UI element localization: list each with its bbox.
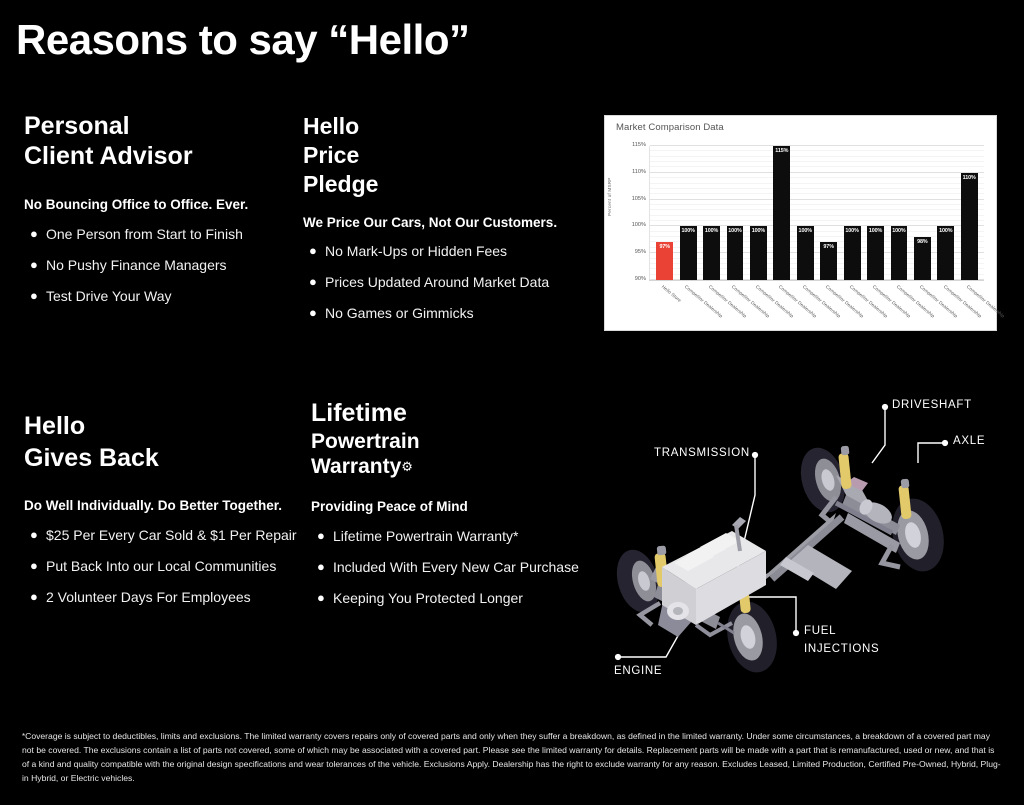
list-item-label: Test Drive Your Way: [46, 288, 172, 304]
chart-bar: 115%: [773, 146, 790, 280]
chart-bar-value-label: 100%: [680, 228, 697, 234]
chart-y-tick-label: 100%: [632, 222, 646, 228]
chart-bar: 100%: [750, 226, 767, 280]
list-item: ●Keeping You Protected Longer: [311, 590, 601, 606]
diagram-label-driveshaft: DRIVESHAFT: [892, 399, 972, 411]
chart-bar-value-label: 97%: [656, 244, 673, 250]
diagram-label-fuel-injections-line2: INJECTIONS: [804, 643, 879, 655]
section-bullet-list: ●$25 Per Every Car Sold & $1 Per Repair …: [24, 527, 304, 605]
chassis-icon: ⚙: [401, 459, 413, 474]
list-item: ●Put Back Into our Local Communities: [24, 558, 304, 574]
bullet-icon: ●: [309, 274, 317, 289]
chart-x-tick: Competitor Dealership: [770, 284, 794, 330]
chart-bars-region: 90%95%100%105%110%115% 97%100%100%100%10…: [649, 146, 984, 280]
chart-bar-series: 97%100%100%100%100%115%100%97%100%100%10…: [650, 146, 984, 280]
chart-x-tick: Competitor Dealership: [793, 284, 817, 330]
section-hello-gives-back: Hello Gives Back Do Well Individually. D…: [24, 411, 304, 620]
chart-bar-value-label: 115%: [773, 148, 790, 154]
chart-bar: 100%: [703, 226, 720, 280]
chart-plot-area: Percent of MSRP 90%95%100%105%110%115% 9…: [605, 138, 998, 332]
bullet-icon: ●: [317, 559, 325, 574]
list-item: ●No Mark-Ups or Hidden Fees: [303, 243, 583, 259]
chart-bar-column: 100%: [864, 146, 887, 280]
section-bullet-list: ●Lifetime Powertrain Warranty* ●Included…: [311, 528, 601, 606]
chart-bar-value-label: 100%: [750, 228, 767, 234]
chart-bar-column: 100%: [934, 146, 957, 280]
chart-bar: 100%: [727, 226, 744, 280]
list-item: ●No Games or Gimmicks: [303, 305, 583, 321]
section-heading: Lifetime Powertrain Warranty⚙: [311, 398, 601, 480]
section-heading: Hello Gives Back: [24, 411, 304, 474]
list-item: ●2 Volunteer Days For Employees: [24, 589, 304, 605]
chart-x-tick: Hello Store: [652, 284, 676, 330]
section-hello-price-pledge: Hello Price Pledge We Price Our Cars, No…: [303, 112, 583, 336]
heading-line-2: Client Advisor: [24, 142, 289, 172]
list-item-label: Lifetime Powertrain Warranty*: [333, 528, 518, 544]
chart-x-axis-line: [649, 280, 984, 281]
footer-disclaimer-text: Coverage is subject to deductibles, limi…: [22, 731, 1001, 783]
chart-bar: 100%: [680, 226, 697, 280]
bullet-icon: ●: [30, 527, 38, 542]
list-item-label: Keeping You Protected Longer: [333, 590, 523, 606]
section-subheading: Do Well Individually. Do Better Together…: [24, 498, 304, 513]
chart-x-tick: Competitor Dealership: [887, 284, 911, 330]
section-lifetime-powertrain-warranty: Lifetime Powertrain Warranty⚙ Providing …: [311, 398, 601, 621]
chart-bar-value-label: 110%: [961, 175, 978, 181]
diagram-label-axle: AXLE: [953, 435, 985, 447]
bullet-icon: ●: [309, 305, 317, 320]
chart-bar-column: 98%: [911, 146, 934, 280]
chart-bar-column: 100%: [747, 146, 770, 280]
bullet-icon: ●: [30, 226, 38, 241]
heading-line-1: Personal: [24, 112, 289, 142]
list-item-label: No Pushy Finance Managers: [46, 257, 227, 273]
heading-line-1: Lifetime: [311, 398, 601, 429]
chart-bar-column: 100%: [700, 146, 723, 280]
diagram-label-fuel-injections-line1: FUEL: [804, 625, 836, 637]
chart-bar-column: 100%: [887, 146, 910, 280]
section-subheading: We Price Our Cars, Not Our Customers.: [303, 215, 583, 230]
heading-line-3: Pledge: [303, 170, 583, 199]
bullet-icon: ●: [30, 257, 38, 272]
chart-bar-value-label: 100%: [937, 228, 954, 234]
chart-x-tick: Competitor Dealership: [699, 284, 723, 330]
chart-bar-column: 100%: [794, 146, 817, 280]
section-subheading: Providing Peace of Mind: [311, 499, 601, 514]
drivetrain-illustration: [600, 385, 1024, 685]
chart-bar-value-label: 100%: [727, 228, 744, 234]
chart-bar-column: 100%: [840, 146, 863, 280]
chart-x-tick: Competitor Dealership: [958, 284, 982, 330]
chart-bar: 100%: [867, 226, 884, 280]
chart-bar: 100%: [844, 226, 861, 280]
chart-bar: 97%: [820, 242, 837, 280]
list-item-label: One Person from Start to Finish: [46, 226, 243, 242]
chart-bar-column: 100%: [723, 146, 746, 280]
chart-x-tick: Competitor Dealership: [676, 284, 700, 330]
chart-x-tick: Competitor Dealership: [840, 284, 864, 330]
page-title: Reasons to say “Hello”: [16, 18, 469, 62]
diagram-label-transmission: TRANSMISSION: [654, 447, 750, 459]
chart-x-tick: Competitor Dealership: [934, 284, 958, 330]
chart-bar-column: 97%: [817, 146, 840, 280]
chart-x-tick: Competitor Dealership: [723, 284, 747, 330]
heading-line-2: Price: [303, 141, 583, 170]
chart-x-tick-label: Competitor Dealership: [966, 284, 1006, 319]
list-item: ●Prices Updated Around Market Data: [303, 274, 583, 290]
chart-bar: 100%: [891, 226, 908, 280]
list-item-label: $25 Per Every Car Sold & $1 Per Repair: [46, 527, 297, 543]
chart-bar: 110%: [961, 173, 978, 280]
chart-bar: 100%: [797, 226, 814, 280]
chart-bar-column: 115%: [770, 146, 793, 280]
section-personal-client-advisor: Personal Client Advisor No Bouncing Offi…: [24, 112, 289, 319]
chart-x-tick: Competitor Dealership: [817, 284, 841, 330]
list-item-label: No Games or Gimmicks: [325, 305, 474, 321]
chart-bar-value-label: 100%: [703, 228, 720, 234]
list-item: ●No Pushy Finance Managers: [24, 257, 289, 273]
chart-bar-value-label: 98%: [914, 239, 931, 245]
bullet-icon: ●: [30, 589, 38, 604]
diagram-label-engine: ENGINE: [614, 665, 662, 677]
chart-x-tick: Competitor Dealership: [864, 284, 888, 330]
list-item: ●Test Drive Your Way: [24, 288, 289, 304]
chart-bar-column: 97%: [653, 146, 676, 280]
list-item: ●Included With Every New Car Purchase: [311, 559, 601, 575]
list-item-label: Prices Updated Around Market Data: [325, 274, 549, 290]
section-bullet-list: ●No Mark-Ups or Hidden Fees ●Prices Upda…: [303, 243, 583, 321]
list-item: ●One Person from Start to Finish: [24, 226, 289, 242]
heading-line-2: Powertrain: [311, 429, 601, 455]
list-item: ●$25 Per Every Car Sold & $1 Per Repair: [24, 527, 304, 543]
footer-disclaimer: *Coverage is subject to deductibles, lim…: [22, 730, 1002, 786]
bullet-icon: ●: [317, 590, 325, 605]
chart-x-tick: Competitor Dealership: [911, 284, 935, 330]
section-subheading: No Bouncing Office to Office. Ever.: [24, 197, 289, 212]
heading-line-3-text: Warranty: [311, 455, 401, 478]
list-item-label: 2 Volunteer Days For Employees: [46, 589, 251, 605]
chart-y-tick-label: 115%: [632, 142, 646, 148]
chart-bar-value-label: 100%: [797, 228, 814, 234]
chart-y-tick-label: 95%: [635, 249, 646, 255]
chart-bar-column: 100%: [676, 146, 699, 280]
section-heading: Personal Client Advisor: [24, 112, 289, 171]
list-item: ●Lifetime Powertrain Warranty*: [311, 528, 601, 544]
chart-x-tick: Competitor Dealership: [746, 284, 770, 330]
section-bullet-list: ●One Person from Start to Finish ●No Pus…: [24, 226, 289, 304]
list-item-label: No Mark-Ups or Hidden Fees: [325, 243, 507, 259]
slide-root: Reasons to say “Hello” Personal Client A…: [0, 0, 1024, 805]
chart-bar-value-label: 100%: [844, 228, 861, 234]
chart-bar-column: 110%: [957, 146, 980, 280]
chart-bar: 97%: [656, 242, 673, 280]
bullet-icon: ●: [30, 288, 38, 303]
heading-line-2: Gives Back: [24, 443, 304, 475]
market-comparison-chart-panel: Market Comparison Data Percent of MSRP 9…: [604, 115, 997, 331]
chart-bar: 98%: [914, 237, 931, 280]
heading-line-1: Hello: [303, 112, 583, 141]
heading-line-3: Warranty⚙: [311, 454, 601, 480]
drivetrain-diagram: DRIVESHAFT AXLE TRANSMISSION FUEL INJECT…: [600, 385, 1024, 685]
bullet-icon: ●: [309, 243, 317, 258]
list-item-label: Included With Every New Car Purchase: [333, 559, 579, 575]
bullet-icon: ●: [317, 528, 325, 543]
chart-bar-value-label: 100%: [867, 228, 884, 234]
chart-y-tick-label: 105%: [632, 196, 646, 202]
chart-bar-value-label: 100%: [891, 228, 908, 234]
list-item-label: Put Back Into our Local Communities: [46, 558, 276, 574]
chart-x-axis-labels: Hello StoreCompetitor DealershipCompetit…: [649, 284, 984, 330]
chart-y-tick-label: 90%: [635, 276, 646, 282]
chart-y-axis-label: Percent of MSRP: [607, 178, 612, 217]
chart-y-tick-label: 110%: [632, 169, 646, 175]
chart-bar-value-label: 97%: [820, 244, 837, 250]
section-heading: Hello Price Pledge: [303, 112, 583, 199]
bullet-icon: ●: [30, 558, 38, 573]
chart-title: Market Comparison Data: [616, 122, 724, 133]
heading-line-1: Hello: [24, 411, 304, 443]
chart-bar: 100%: [937, 226, 954, 280]
